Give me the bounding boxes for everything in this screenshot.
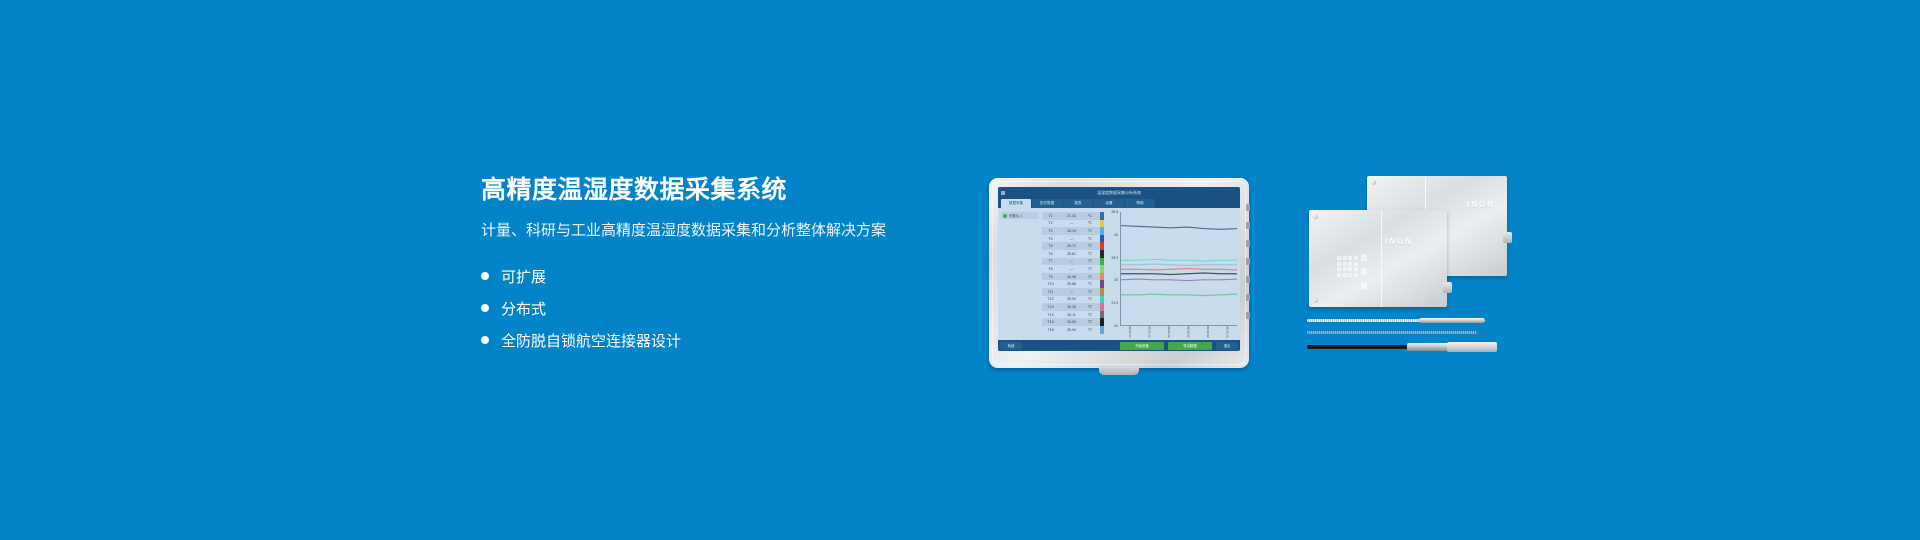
cell-unit: ℃ (1084, 328, 1096, 332)
cell-value: 26.90 (1059, 320, 1084, 324)
cell-unit: ℃ (1084, 252, 1096, 256)
cell-value: 21.33 (1059, 214, 1084, 218)
cell-channel: T8 (1042, 267, 1059, 271)
bullet-dot-icon (481, 304, 489, 312)
feature-list: 可扩展 分布式 全防脱自锁航空连接器设计 (481, 260, 1001, 356)
label-plate (1361, 254, 1367, 261)
monitor-bezel: 温湿度数据采集分析系统 数据采集 历史数据 报表 设置 帮助 采集仪-1 (989, 178, 1249, 368)
cell-unit: ℃ (1084, 275, 1096, 279)
table-row[interactable]: T1225.94℃ (1042, 296, 1100, 304)
y-tick-label: 26.5 (1111, 210, 1118, 214)
exit-button[interactable]: 退出 (1216, 342, 1238, 350)
data-logger-unit-front: INON (1309, 210, 1447, 307)
monitor-screen: 温湿度数据采集分析系统 数据采集 历史数据 报表 设置 帮助 采集仪-1 (998, 187, 1240, 351)
table-row[interactable]: T121.33℃ (1042, 212, 1100, 220)
page-title: 高精度温湿度数据采集系统 (481, 174, 1001, 206)
x-tick-label: 09:28:12 (1186, 326, 1190, 338)
label-plate (1361, 268, 1367, 275)
cell-channel: T1 (1042, 214, 1059, 218)
cell-unit: ℃ (1084, 214, 1096, 218)
screw-icon (1313, 298, 1318, 303)
probe-tip (1419, 318, 1485, 323)
cell-channel: T6 (1042, 252, 1059, 256)
trend-chart: 26.52625.52524.524 09:22:1209:24:1209:26… (1104, 208, 1240, 340)
y-tick-label: 25 (1114, 278, 1118, 282)
tree-node-device[interactable]: 采集仪-1 (1001, 212, 1039, 219)
cell-unit: ℃ (1084, 259, 1096, 263)
table-row[interactable]: T11---℃ (1042, 288, 1100, 296)
brand-logo: INON (1467, 200, 1495, 209)
table-row[interactable]: T7---℃ (1042, 258, 1100, 266)
probe-cable (1307, 319, 1425, 322)
cell-value: 26.11 (1059, 313, 1084, 317)
x-tick-label: 09:30:12 (1206, 326, 1210, 338)
probe-cable (1307, 331, 1477, 334)
list-item: 全防脱自锁航空连接器设计 (481, 324, 1001, 356)
cell-value: 25.94 (1059, 328, 1084, 332)
connector-port (1503, 232, 1512, 243)
connector-body (1447, 342, 1497, 352)
connector-ferrule (1407, 343, 1451, 351)
app-titlebar: 温湿度数据采集分析系统 (998, 187, 1240, 198)
table-row[interactable]: T326.19℃ (1042, 227, 1100, 235)
monitor-stand (1099, 366, 1139, 375)
panel-seam (1381, 210, 1382, 307)
cell-value: 25.94 (1059, 297, 1084, 301)
cell-value: 26.28 (1059, 305, 1084, 309)
cell-unit: ℃ (1084, 297, 1096, 301)
x-tick-label: 09:26:12 (1167, 326, 1171, 338)
table-row[interactable]: T1625.94℃ (1042, 326, 1100, 334)
table-row[interactable]: T1326.28℃ (1042, 303, 1100, 311)
probe-pt100 (1307, 318, 1485, 323)
cell-unit: ℃ (1084, 305, 1096, 309)
trend-line-T15 (1121, 212, 1237, 325)
table-row[interactable]: T1025.88℃ (1042, 280, 1100, 288)
cell-unit: ℃ (1084, 290, 1096, 294)
cell-unit: ℃ (1084, 320, 1096, 324)
tab-report[interactable]: 报表 (1063, 199, 1093, 208)
industrial-monitor: 温湿度数据采集分析系统 数据采集 历史数据 报表 设置 帮助 采集仪-1 (989, 178, 1249, 368)
cell-value: --- (1059, 237, 1084, 241)
table-row[interactable]: T1526.90℃ (1042, 318, 1100, 326)
y-tick-label: 25.5 (1111, 256, 1118, 260)
start-acquisition-button[interactable]: 开始采集 (1120, 342, 1164, 350)
terminal-block-icon (1337, 256, 1358, 277)
cell-channel: T13 (1042, 305, 1059, 309)
cell-channel: T5 (1042, 244, 1059, 248)
cell-unit: ℃ (1084, 267, 1096, 271)
table-row[interactable]: T625.61℃ (1042, 250, 1100, 258)
cell-value: --- (1059, 221, 1084, 225)
hardware-group: INON INON (1307, 176, 1512, 366)
y-tick-label: 24.5 (1111, 301, 1118, 305)
chart-plot-area (1120, 212, 1237, 326)
list-item: 分布式 (481, 292, 1001, 324)
cell-unit: ℃ (1084, 244, 1096, 248)
cell-value: --- (1059, 290, 1084, 294)
cell-channel: T15 (1042, 320, 1059, 324)
list-item: 可扩展 (481, 260, 1001, 292)
hero-banner: 高精度温湿度数据采集系统 计量、科研与工业高精度温湿度数据采集和分析整体解决方案… (0, 0, 1920, 540)
probe-cable (1307, 345, 1415, 349)
cell-unit: ℃ (1084, 221, 1096, 225)
cell-value: 26.19 (1059, 229, 1084, 233)
table-row[interactable]: T525.72℃ (1042, 242, 1100, 250)
cell-channel: T3 (1042, 229, 1059, 233)
chart-y-axis: 26.52625.52524.524 (1107, 212, 1120, 326)
screw-icon (1371, 180, 1376, 185)
cell-channel: T12 (1042, 297, 1059, 301)
cell-channel: T10 (1042, 282, 1059, 286)
cell-unit: ℃ (1084, 313, 1096, 317)
table-row[interactable]: T8---℃ (1042, 265, 1100, 273)
status-ready-button[interactable]: 就绪 (1000, 342, 1022, 350)
app-logo-icon (1001, 191, 1005, 195)
screw-icon (1313, 214, 1318, 219)
cell-channel: T7 (1042, 259, 1059, 263)
cell-value: 25.72 (1059, 244, 1084, 248)
app-tabbar: 数据采集 历史数据 报表 设置 帮助 (998, 198, 1240, 208)
hero-subtitle: 计量、科研与工业高精度温湿度数据采集和分析整体解决方案 (481, 220, 1001, 242)
tab-data-acquisition[interactable]: 数据采集 (1001, 199, 1031, 208)
cell-unit: ℃ (1084, 229, 1096, 233)
bullet-dot-icon (481, 336, 489, 344)
x-tick-label: 09:24:12 (1147, 326, 1151, 338)
table-row[interactable]: T2---℃ (1042, 220, 1100, 228)
cell-channel: T11 (1042, 290, 1059, 294)
tab-history[interactable]: 历史数据 (1032, 199, 1062, 208)
y-tick-label: 26 (1114, 233, 1118, 237)
hero-copy: 高精度温湿度数据采集系统 计量、科研与工业高精度温湿度数据采集和分析整体解决方案… (481, 174, 1001, 372)
app-body: 采集仪-1 T121.33℃T2---℃T326.19℃T4---℃T525.7… (998, 208, 1240, 340)
tab-settings[interactable]: 设置 (1094, 199, 1124, 208)
device-tree: 采集仪-1 (998, 208, 1042, 340)
table-row[interactable]: T4---℃ (1042, 235, 1100, 243)
feature-label: 分布式 (501, 298, 546, 319)
connector-port (1443, 282, 1452, 293)
y-tick-label: 24 (1114, 324, 1118, 328)
x-tick-label: 09:32:12 (1225, 326, 1229, 338)
export-data-button[interactable]: 导出数据 (1168, 342, 1212, 350)
cell-unit: ℃ (1084, 237, 1096, 241)
label-plate (1361, 282, 1367, 289)
cell-value: 26.98 (1059, 275, 1084, 279)
cell-channel: T2 (1042, 221, 1059, 225)
feature-label: 可扩展 (501, 266, 546, 287)
table-row[interactable]: T1426.11℃ (1042, 311, 1100, 319)
bullet-dot-icon (481, 272, 489, 280)
cell-channel: T14 (1042, 313, 1059, 317)
cell-value: 25.88 (1059, 282, 1084, 286)
cell-channel: T9 (1042, 275, 1059, 279)
status-led-icon (1003, 214, 1007, 218)
cell-value: 25.61 (1059, 252, 1084, 256)
cell-channel: T4 (1042, 237, 1059, 241)
feature-label: 全防脱自锁航空连接器设计 (501, 330, 681, 351)
brand-logo: INON (1385, 237, 1413, 246)
table-row[interactable]: T926.98℃ (1042, 273, 1100, 281)
app-title-label: 温湿度数据采集分析系统 (1097, 190, 1141, 196)
probe-aviation-connector (1307, 342, 1497, 352)
app-statusbar: 就绪 开始采集 导出数据 退出 (998, 340, 1240, 351)
cell-channel: T16 (1042, 328, 1059, 332)
monitor-side-ports (1246, 204, 1250, 334)
x-tick-label: 09:22:12 (1128, 326, 1132, 338)
tab-help[interactable]: 帮助 (1125, 199, 1155, 208)
probe-humidity-cable (1307, 331, 1477, 335)
channel-table[interactable]: T121.33℃T2---℃T326.19℃T4---℃T525.72℃T625… (1042, 208, 1100, 340)
cell-value: --- (1059, 267, 1084, 271)
tree-node-label: 采集仪-1 (1009, 213, 1022, 218)
cell-value: --- (1059, 259, 1084, 263)
cell-unit: ℃ (1084, 282, 1096, 286)
chart-x-axis: 09:22:1209:24:1209:26:1209:28:1209:30:12… (1120, 326, 1237, 338)
